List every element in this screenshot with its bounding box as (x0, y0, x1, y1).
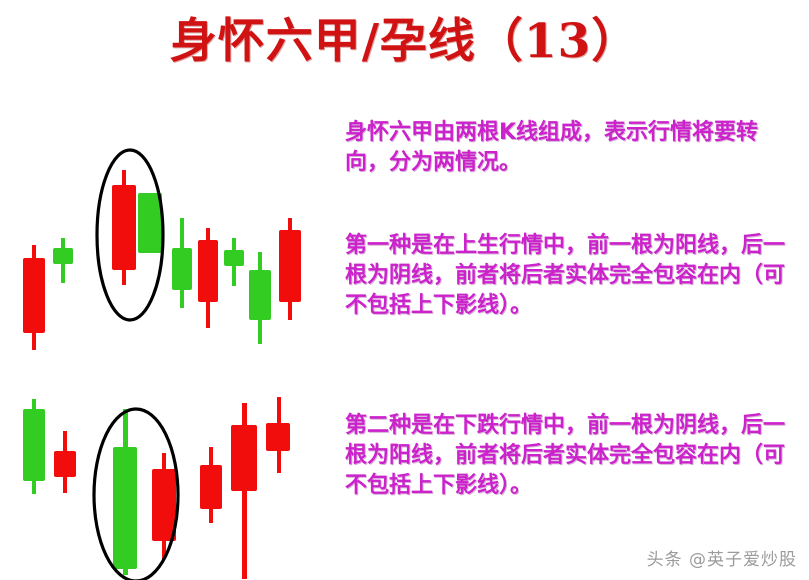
candle-6-green (224, 238, 244, 286)
candle-0-red (23, 245, 45, 350)
candle-7-green (249, 252, 271, 344)
paragraph-intro: 身怀六甲由两根K线组成，表示行情将要转向，分为两情况。 (345, 118, 797, 178)
uptrend-harami-chart (0, 130, 340, 370)
downtrend-harami-chart (0, 395, 340, 575)
page-title: 身怀六甲/孕线（13） (0, 14, 809, 70)
candle-5-red (231, 403, 257, 579)
paragraph-second-case: 第二种是在下跌行情中，前一根为阴线，后一根为阳线，前者将后者实体完全包容在内（可… (345, 411, 797, 501)
candle-1-red (54, 431, 76, 493)
candle-4-red (200, 447, 222, 523)
candle-3-green-baby (138, 193, 162, 253)
candle-2-green-mother (113, 409, 137, 575)
slide-canvas: 身怀六甲/孕线（13） (0, 0, 809, 580)
candle-2-red-mother (112, 170, 136, 285)
candle-0-green (23, 399, 45, 494)
candle-8-red (279, 218, 301, 320)
candle-5-red (198, 228, 218, 328)
candle-1-green (53, 238, 73, 283)
candle-6-red (266, 397, 290, 473)
watermark-label: 头条 @英子爱炒股 (647, 545, 797, 570)
candle-4-green (172, 218, 192, 308)
paragraph-first-case: 第一种是在上生行情中，前一根为阳线，后一根为阴线，前者将后者实体完全包容在内（可… (345, 231, 797, 321)
